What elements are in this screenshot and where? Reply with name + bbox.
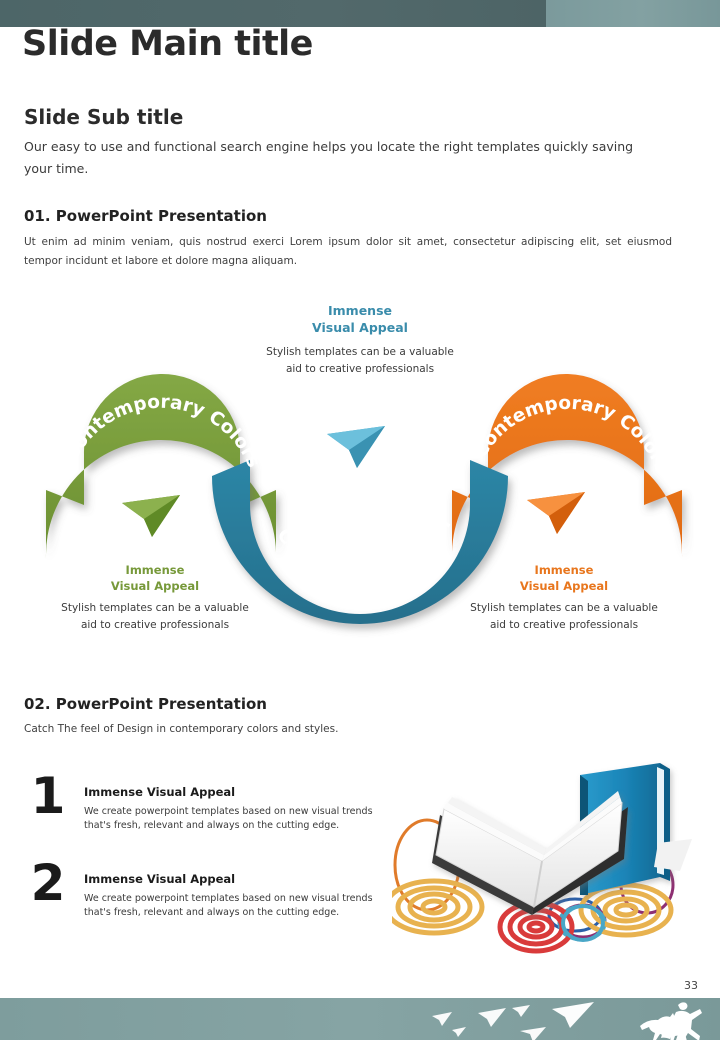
callout-left: Immense Visual Appeal Stylish templates … (55, 562, 255, 634)
blue-paper-plane-icon (327, 426, 385, 468)
callout-left-heading-line1: Immense (126, 563, 185, 577)
list-item-body: We create powerpoint templates based on … (84, 892, 374, 919)
page-title: Slide Main title (22, 24, 622, 64)
callout-center-heading: Immense Visual Appeal (270, 302, 450, 336)
section-02-body: Catch The feel of Design in contemporary… (24, 721, 524, 738)
callout-center-heading-line2: Visual Appeal (312, 320, 408, 335)
open-book-and-rings-illustration (392, 755, 698, 955)
callout-right-heading-line2: Visual Appeal (520, 579, 608, 593)
loose-page (654, 839, 692, 871)
orange-paper-plane-icon (527, 492, 585, 534)
callout-left-body: Stylish templates can be a valuable aid … (55, 600, 255, 634)
callout-left-heading: Immense Visual Appeal (55, 562, 255, 594)
wave-arc-diagram: Contemporary Colors Contemporary Colors … (0, 290, 720, 670)
callout-center-body: Stylish templates can be a valuable aid … (265, 344, 455, 378)
slide-sub-title: Slide Sub title (24, 105, 183, 129)
header-bar (0, 0, 720, 27)
footer-bar (0, 998, 720, 1040)
header-bar-dark-segment (0, 0, 546, 27)
callout-right: Immense Visual Appeal Stylish templates … (464, 562, 664, 634)
list-item-heading: Immense Visual Appeal (84, 785, 235, 799)
header-bar-light-segment (546, 0, 720, 27)
section-01-title: 01. PowerPoint Presentation (24, 207, 267, 225)
list-item-body: We create powerpoint templates based on … (84, 805, 374, 832)
list-item-number: 2 (22, 858, 74, 908)
page-number: 33 (684, 979, 698, 992)
callout-center-heading-line1: Immense (328, 303, 392, 318)
illustration (392, 755, 698, 955)
list-item-number: 1 (22, 771, 74, 821)
callout-left-heading-line2: Visual Appeal (111, 579, 199, 593)
section-02-title: 02. PowerPoint Presentation (24, 695, 267, 713)
paper-plane-icon (432, 1002, 594, 1040)
list-item-heading: Immense Visual Appeal (84, 872, 235, 886)
slide-sub-description: Our easy to use and functional search en… (24, 136, 664, 180)
green-paper-plane-icon (122, 495, 180, 537)
section-01-body: Ut enim ad minim veniam, quis nostrud ex… (24, 233, 672, 271)
footer-icons (0, 998, 720, 1040)
callout-right-heading: Immense Visual Appeal (464, 562, 664, 594)
callout-right-heading-line1: Immense (535, 563, 594, 577)
callout-right-body: Stylish templates can be a valuable aid … (464, 600, 664, 634)
slide-canvas: Slide Main title Slide Sub title Our eas… (0, 0, 720, 1040)
